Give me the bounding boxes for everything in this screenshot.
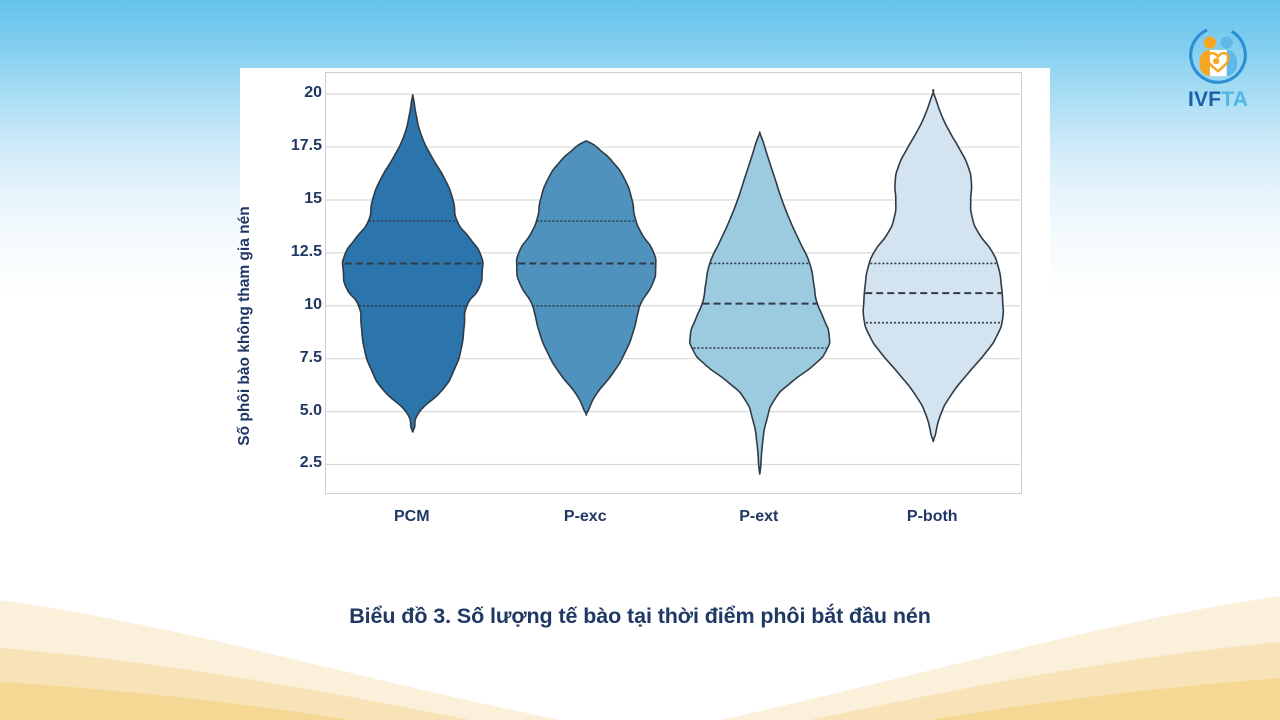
y-tick-label-7.5: 7.5 [256,350,322,366]
x-axis-category-labels: PCMP-excP-extP-both [325,500,1022,536]
x-label-P-both: P-both [907,508,958,526]
plot-area [325,72,1022,494]
y-tick-label-10: 10 [256,297,322,313]
violin-body-P-both [863,90,1003,442]
y-axis-title-text: Số phôi bào không tham gia nén [236,176,254,476]
x-label-PCM: PCM [394,508,430,526]
y-tick-label-15: 15 [256,191,322,207]
violin-plot-svg [326,73,1020,492]
violin-body-P-exc [517,141,656,415]
violin-P-both [863,90,1003,442]
violin-P-ext [690,132,830,474]
x-label-P-exc: P-exc [564,508,607,526]
logo-word-ivf: IVF [1188,88,1221,111]
logo-word-ta: TA [1221,88,1248,111]
chart-title-clipped [326,60,1026,70]
figure-caption: Biểu đồ 3. Số lượng tế bào tại thời điểm… [0,604,1280,629]
violin-P-exc [517,141,656,415]
y-tick-label-12.5: 12.5 [256,244,322,260]
sand-waves-svg [0,570,1280,720]
y-tick-label-2.5: 2.5 [256,455,322,471]
x-label-P-ext: P-ext [739,508,778,526]
background-sand-waves [0,570,1280,720]
y-tick-label-17.5: 17.5 [256,138,322,154]
ivfta-logo: IVFTA [1172,24,1264,116]
y-tick-label-5.0: 5.0 [256,403,322,419]
y-axis-tick-labels: 2.55.07.51012.51517.520 [256,68,322,490]
violin-chart-card: Số phôi bào không tham gia nén 2.55.07.5… [240,68,1050,538]
y-tick-label-20: 20 [256,85,322,101]
violin-PCM [343,95,483,432]
parents-and-child-circle-logo-icon [1187,24,1249,86]
logo-wordmark: IVFTA [1172,89,1264,110]
